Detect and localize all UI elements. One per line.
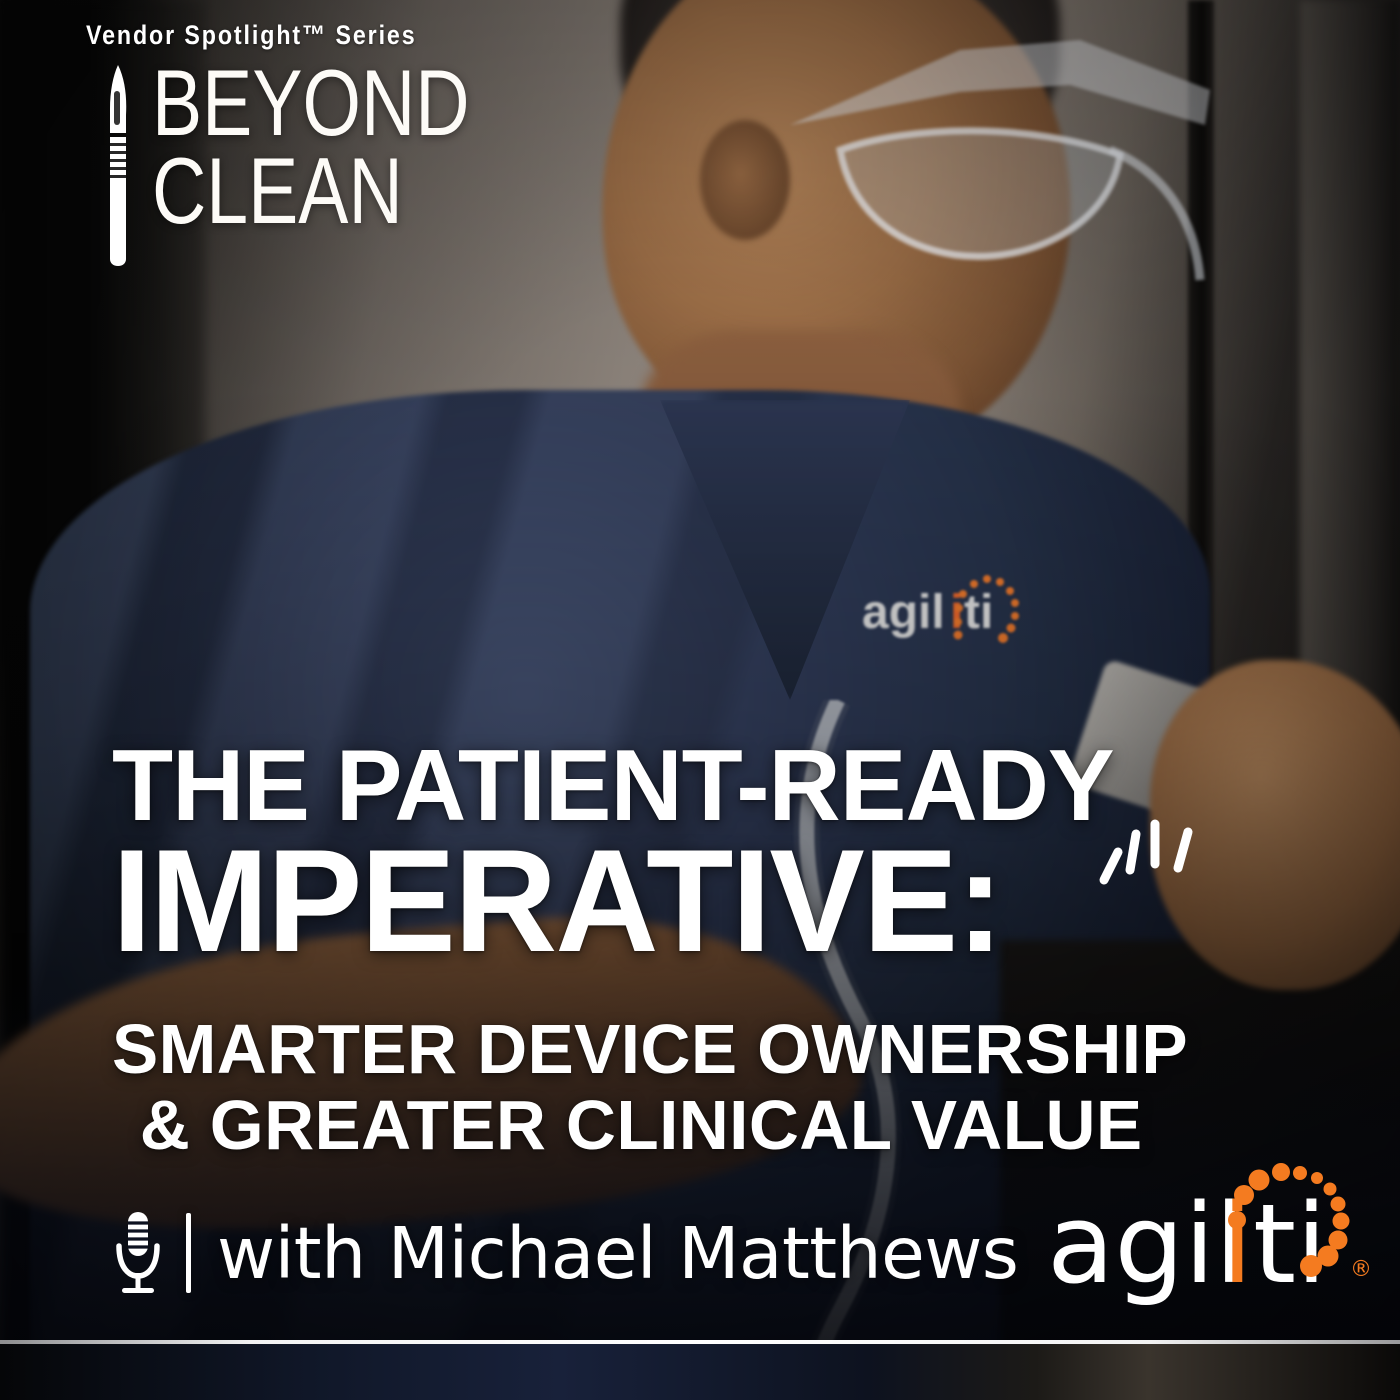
brand-word-beyond: BEYOND bbox=[152, 59, 470, 147]
agiliti-sponsor-logo: agil i ti ® bbox=[1045, 1150, 1375, 1320]
bottom-strip bbox=[0, 1344, 1400, 1400]
host-name-label: with Michael Matthews bbox=[217, 1212, 1018, 1295]
podcast-episode-poster: agil i ti Vendor Spotlight™ Series bbox=[0, 0, 1400, 1400]
scalpel-icon bbox=[94, 63, 140, 268]
brand-word-clean: CLEAN bbox=[152, 147, 470, 235]
episode-subtitle: SMARTER DEVICE OWNERSHIP & GREATER CLINI… bbox=[0, 1012, 1400, 1162]
agiliti-wordmark-part1: agil bbox=[1047, 1180, 1245, 1308]
microphone-icon bbox=[112, 1210, 164, 1296]
host-divider bbox=[186, 1213, 191, 1293]
host-credit-row: with Michael Matthews bbox=[112, 1198, 1018, 1308]
registered-trademark-mark: ® bbox=[1350, 1257, 1372, 1282]
series-kicker-label: Vendor Spotlight™ Series bbox=[86, 20, 499, 51]
agiliti-wordmark-part2: ti bbox=[1253, 1180, 1327, 1308]
agiliti-wordmark: agil i ti bbox=[1047, 1180, 1327, 1308]
episode-subtitle-line-1: SMARTER DEVICE OWNERSHIP bbox=[112, 1012, 1387, 1086]
beyond-clean-brand-lockup: Vendor Spotlight™ Series BEYOND CLEAN bbox=[86, 20, 566, 268]
sparkle-burst-icon bbox=[1092, 808, 1202, 908]
